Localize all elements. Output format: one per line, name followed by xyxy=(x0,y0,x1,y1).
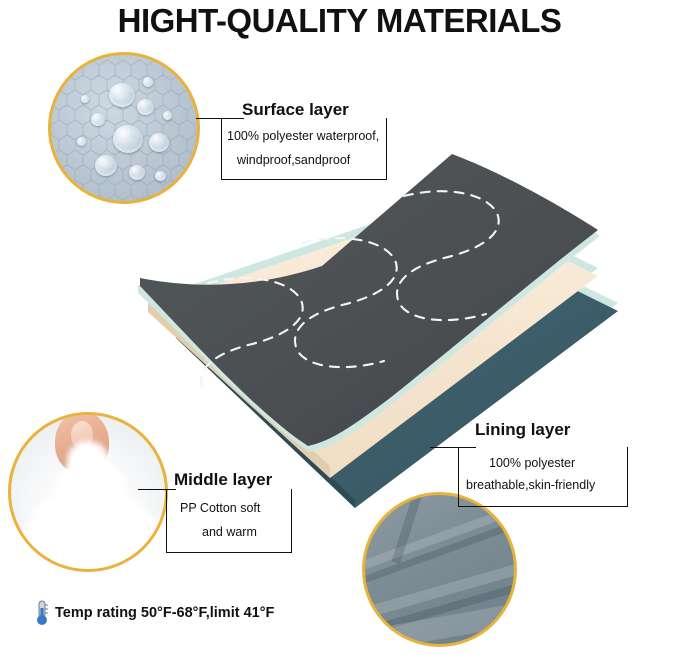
infographic-root: HIGHT-QUALITY MATERIALS xyxy=(0,0,679,655)
cotton-fluff xyxy=(107,515,168,567)
water-droplet xyxy=(109,83,135,107)
water-droplet xyxy=(77,137,86,146)
middle-callout-heading: Middle layer xyxy=(174,470,272,490)
water-droplet xyxy=(91,113,105,126)
surface-callout-line1: 100% polyester waterproof, xyxy=(227,126,379,147)
middle-callout-line1: PP Cotton soft xyxy=(180,498,260,519)
thermometer-icon xyxy=(34,600,50,626)
temperature-rating-row: Temp rating 50°F-68°F,limit 41°F xyxy=(34,600,274,626)
lining-callout-line1: 100% polyester xyxy=(489,453,575,474)
cotton-fluff xyxy=(17,519,77,569)
water-droplet xyxy=(149,133,169,152)
middle-layer-photo xyxy=(8,412,168,572)
water-droplet xyxy=(137,99,154,115)
water-droplet xyxy=(113,125,143,153)
lining-callout-line2: breathable,skin-friendly xyxy=(466,475,595,496)
water-droplet xyxy=(81,95,89,103)
water-droplet xyxy=(95,155,117,176)
lining-layer-photo xyxy=(362,492,517,647)
middle-callout-line2: and warm xyxy=(202,522,257,543)
surface-layer-photo xyxy=(48,52,200,204)
surface-callout-line2: windproof,sandproof xyxy=(237,150,350,171)
water-droplet xyxy=(129,165,145,180)
water-droplet xyxy=(155,171,166,181)
water-droplet xyxy=(143,77,153,87)
temperature-rating-text: Temp rating 50°F-68°F,limit 41°F xyxy=(55,605,274,621)
lining-callout-heading: Lining layer xyxy=(475,420,570,440)
cotton-fluff xyxy=(67,441,109,481)
water-droplet xyxy=(163,111,172,120)
surface-callout-heading: Surface layer xyxy=(242,100,349,120)
